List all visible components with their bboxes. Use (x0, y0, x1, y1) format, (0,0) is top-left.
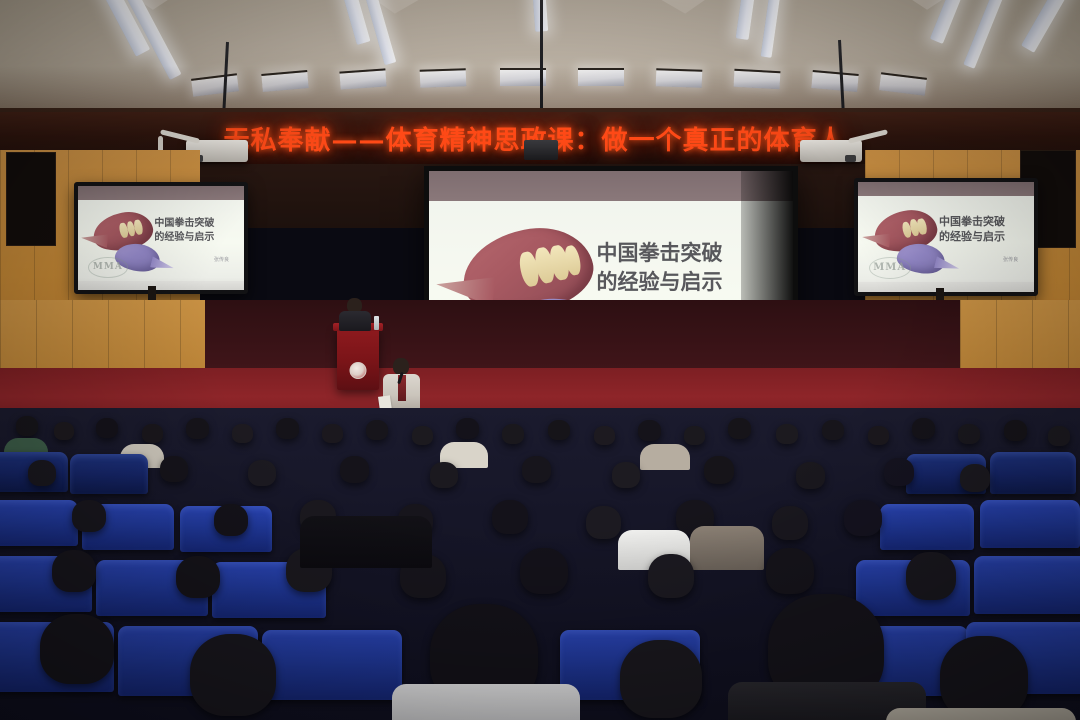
mma-logo: MMA (869, 257, 911, 279)
auditorium-seat (262, 630, 402, 700)
audience-head (958, 424, 980, 444)
water-bottle (374, 316, 379, 330)
audience-head (1004, 420, 1027, 441)
audience-head (456, 418, 479, 439)
audience-head (594, 426, 615, 445)
slide-title-line2: 的经验与启示 (154, 231, 234, 245)
auditorium-seat (70, 454, 148, 494)
audience-head (648, 554, 694, 598)
audience-head (522, 456, 551, 483)
audience-head (960, 464, 990, 492)
audience-shoulders-hoodie (690, 526, 764, 570)
slide-title-line2: 的经验与启示 (939, 230, 1023, 245)
audience-head (28, 460, 56, 486)
podium (337, 328, 379, 390)
ceiling-speaker-center (524, 140, 558, 160)
audience-head-foreground (190, 634, 276, 716)
auditorium-seat (0, 500, 78, 546)
audience-head (340, 456, 369, 483)
audience-head (612, 462, 640, 488)
ceiling-projector-right (800, 140, 862, 162)
audience-head (96, 418, 118, 438)
audience-head (322, 424, 343, 443)
audience-head (776, 424, 798, 444)
projector-lens (845, 155, 856, 162)
audience-head (160, 456, 188, 482)
auditorium-photo: 无私奉献——体育精神思政课：做一个真正的体育人 MMA 中国拳击突破 的经 (0, 0, 1080, 720)
audience-head (844, 500, 882, 536)
audience-head (232, 424, 253, 443)
audience-head-foreground (620, 640, 702, 718)
audience-head (52, 550, 96, 592)
monitor-right-slide: MMA 中国拳击突破 的经验与启示 张传良 (858, 182, 1034, 292)
audience-head (884, 458, 914, 486)
slide-title-line1: 中国拳击突破 (596, 239, 771, 267)
audience-head (492, 500, 528, 534)
audience-head (906, 552, 956, 600)
audience-head (704, 456, 734, 484)
audience-head (766, 548, 814, 594)
audience-shoulders-foreground (886, 708, 1076, 720)
audience-shoulders-light (640, 444, 690, 470)
audience-head (638, 420, 661, 441)
audience-head (796, 462, 825, 489)
audience-head (502, 424, 524, 444)
audience-head (430, 462, 458, 488)
audience-head-foreground (40, 614, 114, 684)
slide-author: 张传良 (1003, 256, 1018, 263)
audience-head (276, 418, 299, 439)
audience-head (54, 422, 74, 440)
audience-jacket-printed (300, 516, 432, 568)
hanging-rod (540, 0, 543, 118)
monitor-left: MMA 中国拳击突破 的经验与启示 张传良 (74, 182, 248, 294)
slide-title: 中国拳击突破 的经验与启示 (596, 239, 771, 296)
audience-head (548, 420, 570, 440)
slide-title-line1: 中国拳击突破 (154, 217, 234, 231)
audience-head (366, 420, 388, 440)
audience-head (728, 418, 751, 439)
audience-head (912, 418, 935, 439)
audience-head (868, 426, 889, 445)
acoustic-panel-left (6, 152, 56, 246)
monitor-left-slide: MMA 中国拳击突破 的经验与启示 张传良 (78, 186, 244, 290)
audience-head (186, 418, 209, 439)
audience-head (412, 426, 433, 445)
slide-author: 张传良 (214, 256, 229, 263)
monitor-right: MMA 中国拳击突破 的经验与启示 张传良 (854, 178, 1038, 296)
auditorium-seat (880, 504, 974, 550)
slide-top-band (429, 171, 793, 201)
podium-emblem (350, 362, 367, 379)
audience-shoulders-foreground (392, 684, 580, 720)
audience-head (684, 426, 705, 445)
audience-head (772, 506, 808, 540)
slide-title-line2: 的经验与启示 (596, 268, 771, 296)
auditorium-seat (990, 452, 1076, 494)
audience-head (822, 420, 844, 440)
audience-area: mlssquima (0, 408, 1080, 720)
mma-logo: MMA (88, 257, 128, 278)
slide-title-line1: 中国拳击突破 (939, 215, 1023, 230)
audience-head (248, 460, 276, 486)
audience-head (1048, 426, 1070, 446)
audience-head (214, 504, 248, 536)
audience-head (142, 424, 163, 443)
audience-head (176, 556, 220, 598)
audience-head (16, 416, 38, 436)
auditorium-seat (974, 556, 1080, 614)
podium-speaker-body (339, 311, 371, 331)
audience-head (586, 506, 621, 539)
audience-head (520, 548, 568, 594)
audience-head (72, 500, 106, 532)
auditorium-seat (980, 500, 1080, 548)
